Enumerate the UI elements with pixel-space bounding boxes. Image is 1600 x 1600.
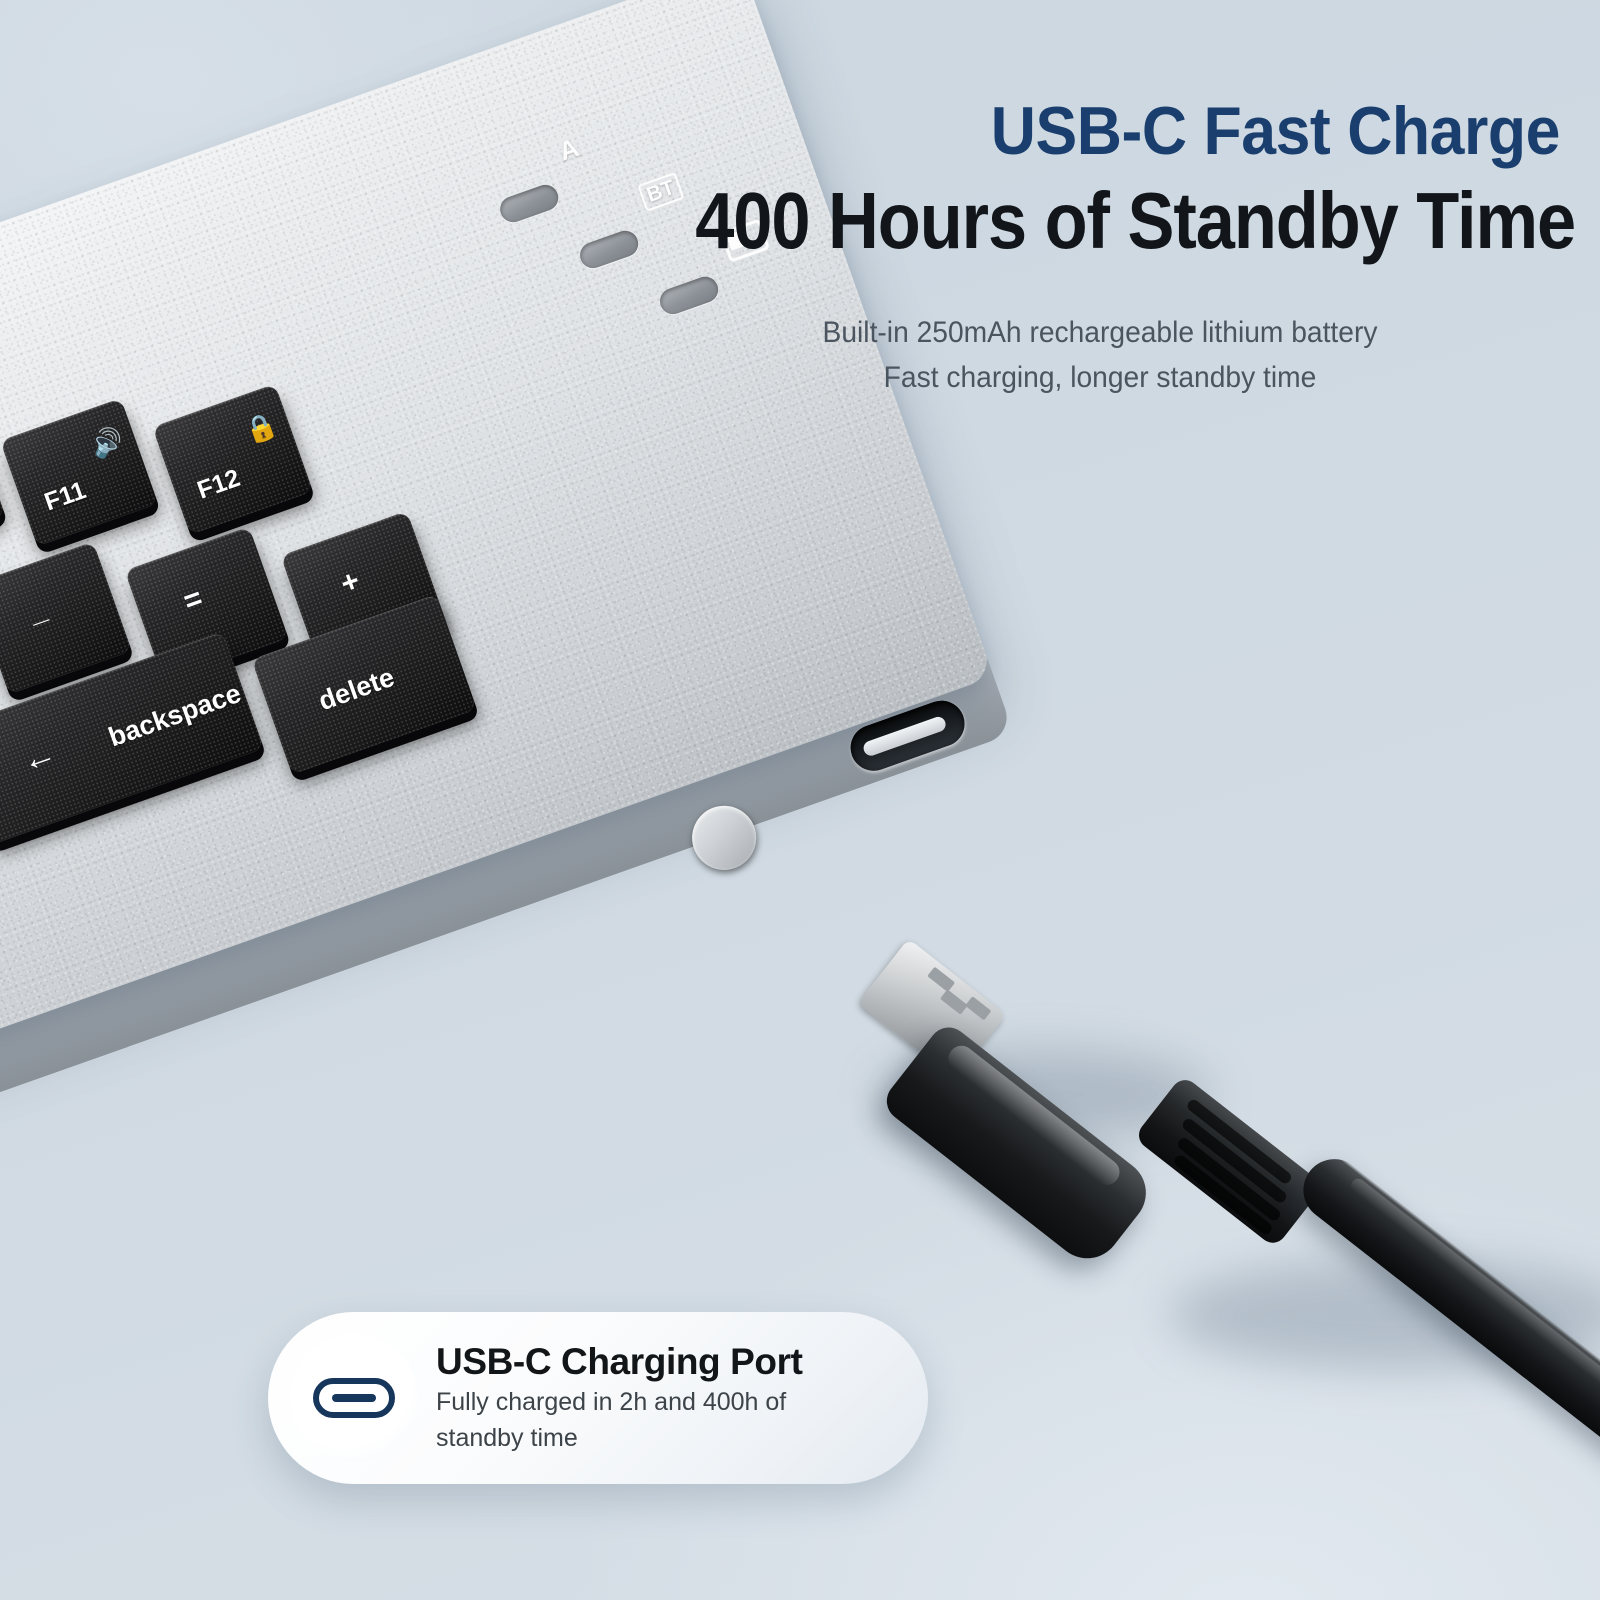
hero-text-block: USB-C Fast Charge 400 Hours of Standby T…: [640, 96, 1560, 400]
hero-headline: 400 Hours of Standby Time: [695, 179, 1505, 264]
usb-c-feature-badge: USB-C Charging Port Fully charged in 2h …: [268, 1312, 928, 1484]
badge-sub-line2: standby time: [436, 1423, 803, 1454]
badge-title: USB-C Charging Port: [436, 1342, 803, 1381]
badge-sub-line1: Fully charged in 2h and 400h of: [436, 1387, 803, 1418]
badge-icon-circle: [290, 1334, 418, 1462]
key-f11[interactable]: [0, 398, 158, 546]
key-f12[interactable]: [152, 384, 313, 535]
hero-subtext-line2: Fast charging, longer standby time: [668, 355, 1533, 400]
badge-text: USB-C Charging Port Fully charged in 2h …: [436, 1342, 803, 1453]
usb-c-cable: [840, 940, 1600, 1600]
product-marketing-image: A BT ▶❘ F8 ▶▶ F9 🔇 F10 🔉: [0, 0, 1600, 1600]
cable-strain-relief: [1133, 1074, 1324, 1248]
led-bluetooth: [577, 227, 642, 272]
hero-subtext-line1: Built-in 250mAh rechargeable lithium bat…: [668, 310, 1533, 355]
caps-lock-icon: A: [555, 132, 583, 167]
key-well: ▶❘ F8 ▶▶ F9 🔇 F10 🔉 F11 🔊 F12 🔒 (: [0, 218, 460, 1262]
led-caps-lock: [497, 181, 562, 226]
hero-kicker: USB-C Fast Charge: [714, 96, 1560, 167]
key-f10[interactable]: [0, 412, 5, 558]
hero-subtext: Built-in 250mAh rechargeable lithium bat…: [668, 310, 1533, 400]
usb-c-port-icon: [312, 1373, 396, 1423]
